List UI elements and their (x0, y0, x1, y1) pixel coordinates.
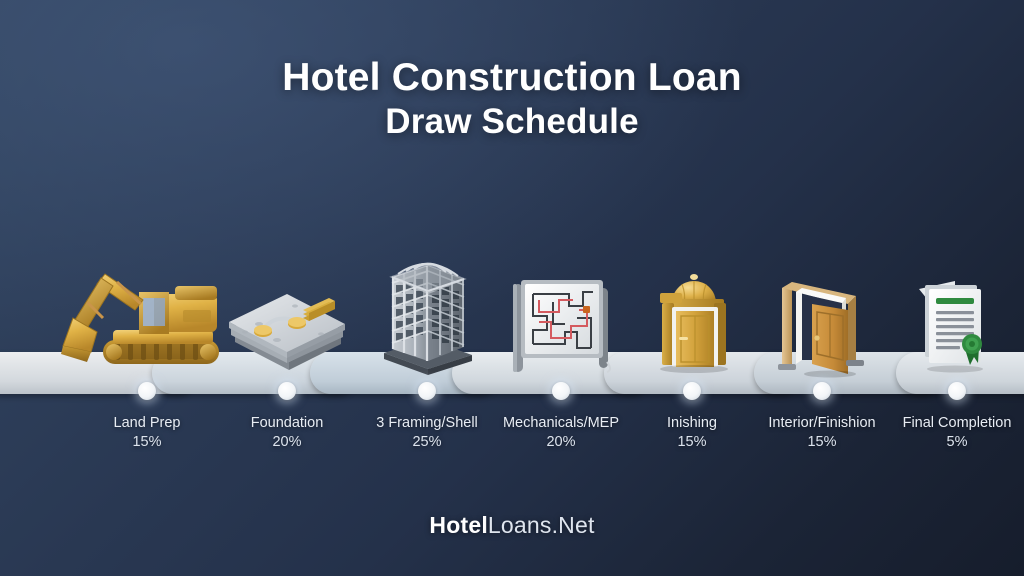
infographic-canvas: Hotel Construction Loan Draw Schedule (0, 0, 1024, 576)
milestone-dot[interactable] (138, 382, 156, 400)
milestone-label-inishing: Inishing 15% (667, 414, 717, 452)
brand-name-light: Loans.Net (488, 512, 595, 538)
milestone-name: 3 Framing/Shell (376, 414, 478, 433)
milestone-name: Inishing (667, 414, 717, 433)
brand-logo: HotelLoans.Net (0, 512, 1024, 539)
title-line-2: Draw Schedule (0, 100, 1024, 144)
milestone-dot[interactable] (278, 382, 296, 400)
milestone-label-mechanicals-mep: Mechanicals/MEP 20% (503, 414, 619, 452)
milestone-percent: 15% (768, 433, 875, 452)
milestone-dot[interactable] (948, 382, 966, 400)
milestone-name: Final Completion (903, 414, 1012, 433)
milestone-dot[interactable] (418, 382, 436, 400)
milestone-percent: 5% (903, 433, 1012, 452)
milestone-label-interior-finishion: Interior/Finishion 15% (768, 414, 875, 452)
milestone-label-foundation: Foundation 20% (251, 414, 324, 452)
milestone-name: Land Prep (114, 414, 181, 433)
building-frame-icon (372, 243, 482, 375)
foundation-slab-icon (217, 288, 357, 374)
blueprint-board-icon (507, 272, 615, 376)
milestone-dot[interactable] (813, 382, 831, 400)
certificate-icon (907, 277, 1007, 377)
milestone-percent: 15% (667, 433, 717, 452)
milestone-percent: 20% (503, 433, 619, 452)
brand-name-bold: Hotel (429, 512, 488, 538)
milestone-name: Interior/Finishion (768, 414, 875, 433)
milestone-percent: 25% (376, 433, 478, 452)
milestone-label-final-completion: Final Completion 5% (903, 414, 1012, 452)
milestone-name: Foundation (251, 414, 324, 433)
footer: HotelLoans.Net (0, 512, 1024, 539)
milestone-percent: 15% (114, 433, 181, 452)
milestone-percent: 20% (251, 433, 324, 452)
milestone-label-framing-shell: 3 Framing/Shell 25% (376, 414, 478, 452)
excavator-icon (57, 252, 237, 372)
milestone-name: Mechanicals/MEP (503, 414, 619, 433)
title-line-1: Hotel Construction Loan (0, 56, 1024, 100)
milestone-label-land-prep: Land Prep 15% (114, 414, 181, 452)
gold-door-icon (642, 257, 742, 375)
milestone-dot[interactable] (552, 382, 570, 400)
open-door-icon (774, 276, 870, 376)
page-title: Hotel Construction Loan Draw Schedule (0, 56, 1024, 143)
milestone-dot[interactable] (683, 382, 701, 400)
